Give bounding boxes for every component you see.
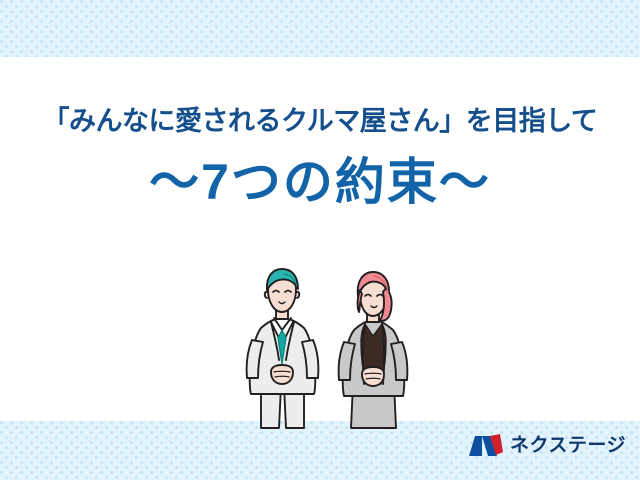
- staff-illustration-svg: [238, 268, 418, 434]
- nextage-n-mark-icon: [469, 434, 503, 457]
- headline-block: 「みんなに愛されるクルマ屋さん」を目指して 〜7つの約束〜: [0, 108, 640, 207]
- male-staff-figure: [247, 269, 319, 428]
- top-dotted-band: [0, 0, 640, 57]
- headline-line-secondary: 〜7つの約束〜: [0, 157, 640, 207]
- promotion-banner: 「みんなに愛されるクルマ屋さん」を目指して 〜7つの約束〜: [0, 0, 640, 480]
- staff-bowing-illustration: [238, 268, 418, 434]
- female-staff-figure: [339, 272, 408, 428]
- headline-line-primary: 「みんなに愛されるクルマ屋さん」を目指して: [0, 108, 640, 135]
- brand-logo: ネクステージ: [469, 434, 626, 457]
- brand-name-text: ネクステージ: [510, 436, 626, 455]
